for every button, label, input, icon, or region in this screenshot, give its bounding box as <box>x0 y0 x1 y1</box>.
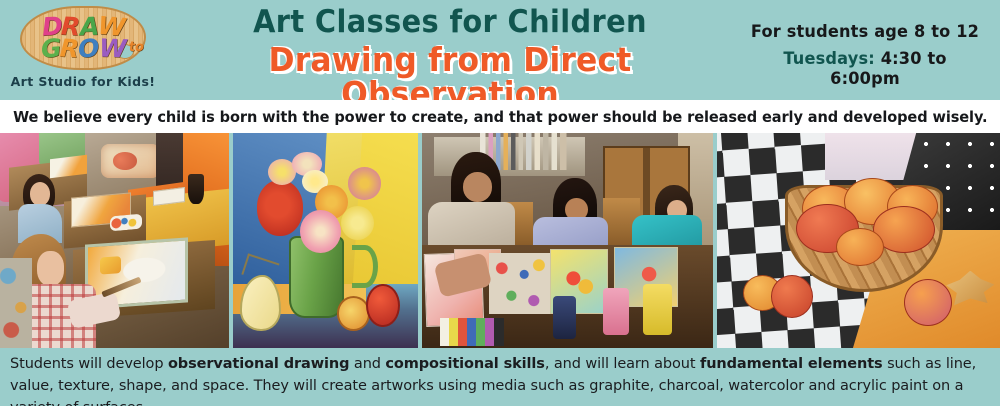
brand-logo[interactable]: DRAW GROW to Art Studio for Kids! <box>8 4 158 98</box>
class-day-label: Tuesdays: <box>783 49 875 69</box>
desc-seg-1: Students will develop <box>10 356 168 372</box>
class-time-text: Tuesdays: 4:30 to 6:00pm <box>746 49 984 89</box>
logo-letter-r2: R <box>59 33 79 63</box>
desc-bold-fundamental-elements: fundamental elements <box>700 356 883 372</box>
course-description-text: Students will develop observational draw… <box>10 354 990 406</box>
logo-word-grow: GROW <box>20 34 146 63</box>
flyer-poster: DRAW GROW to Art Studio for Kids! Art Cl… <box>0 0 1000 406</box>
gallery-photo-basket-still-life <box>717 133 1000 348</box>
age-range-text: For students age 8 to 12 <box>746 22 984 42</box>
desc-seg-2: and <box>349 356 385 372</box>
logo-letter-w2: W <box>98 34 126 64</box>
desc-line-2: texture, shape, and space. They will cre… <box>10 378 963 406</box>
tagline-bar: We believe every child is born with the … <box>0 100 1000 133</box>
title-block: Art Classes for Children Drawing from Di… <box>160 0 740 100</box>
page-title: Art Classes for Children <box>180 6 719 39</box>
logo-letter-o: O <box>78 33 100 63</box>
gallery-photo-three-students <box>422 133 713 348</box>
logo-letter-g: G <box>40 33 62 63</box>
logo-tagline: Art Studio for Kids! <box>8 74 158 89</box>
photo-gallery <box>0 133 1000 348</box>
gallery-photo-flower-still-life <box>233 133 418 348</box>
logo-connector-to: to <box>129 40 144 55</box>
footer-description: Students will develop observational draw… <box>0 348 1000 406</box>
desc-bold-observational-drawing: observational drawing <box>168 356 349 372</box>
schedule-block: For students age 8 to 12 Tuesdays: 4:30 … <box>740 22 990 89</box>
desc-bold-compositional-skills: compositional skills <box>385 356 544 372</box>
gallery-photo-classroom <box>0 133 229 348</box>
tagline-text: We believe every child is born with the … <box>13 108 987 126</box>
header-bar: DRAW GROW to Art Studio for Kids! Art Cl… <box>0 0 1000 100</box>
desc-seg-3: , and will learn about <box>545 356 700 372</box>
